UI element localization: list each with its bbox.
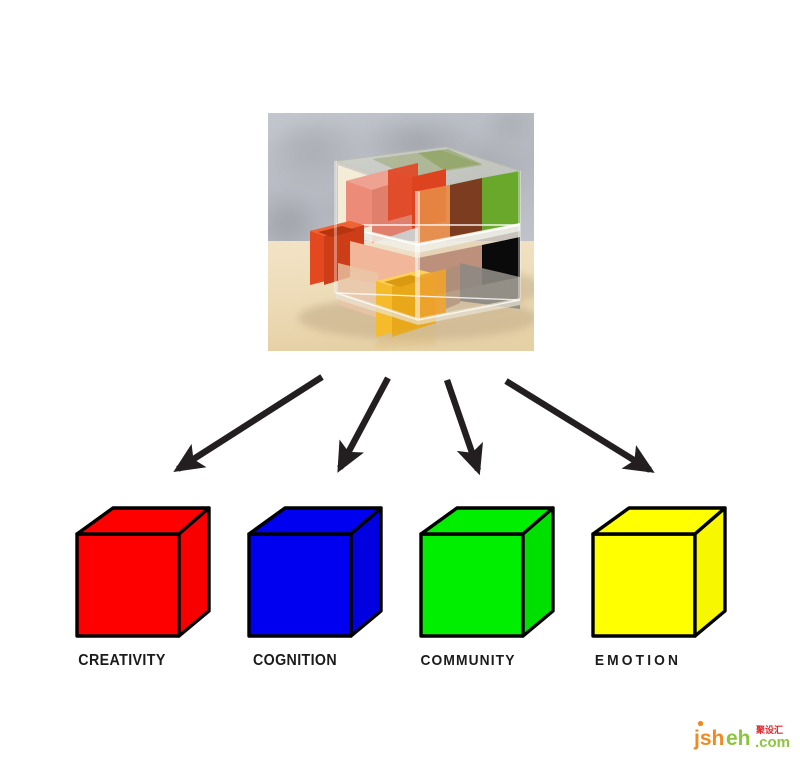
cube-label-cognition: COGNITION: [231, 652, 360, 670]
cube-face-front: [421, 534, 523, 636]
diagram-canvas: CREATIVITY COGNITION COMMUNITY: [0, 0, 800, 757]
watermark-brand: jsh: [693, 727, 724, 750]
cube-community[interactable]: [416, 503, 558, 641]
cube-emotion[interactable]: [588, 503, 730, 641]
arrow-to-cognition: [340, 378, 388, 468]
cube-label-creativity: CREATIVITY: [58, 652, 187, 670]
arrow-to-emotion: [506, 381, 650, 470]
site-watermark: jsh eh 聚设汇 .com: [692, 718, 792, 754]
cube-label-emotion: EMOTION: [574, 652, 703, 669]
acrylic-cube-photo: [268, 113, 534, 351]
watermark-j-dot: [698, 721, 703, 726]
watermark-brand-tail: eh: [726, 727, 751, 750]
watermark-suffix: .com: [755, 734, 790, 751]
cube-cognition[interactable]: [244, 503, 386, 641]
arrow-to-creativity: [178, 377, 322, 469]
cube-face-front: [77, 534, 179, 636]
cube-creativity[interactable]: [72, 503, 214, 641]
cube-label-community: COMMUNITY: [404, 652, 533, 669]
arrow-to-community: [447, 380, 478, 470]
cube-face-front: [249, 534, 351, 636]
cube-face-front: [593, 534, 695, 636]
